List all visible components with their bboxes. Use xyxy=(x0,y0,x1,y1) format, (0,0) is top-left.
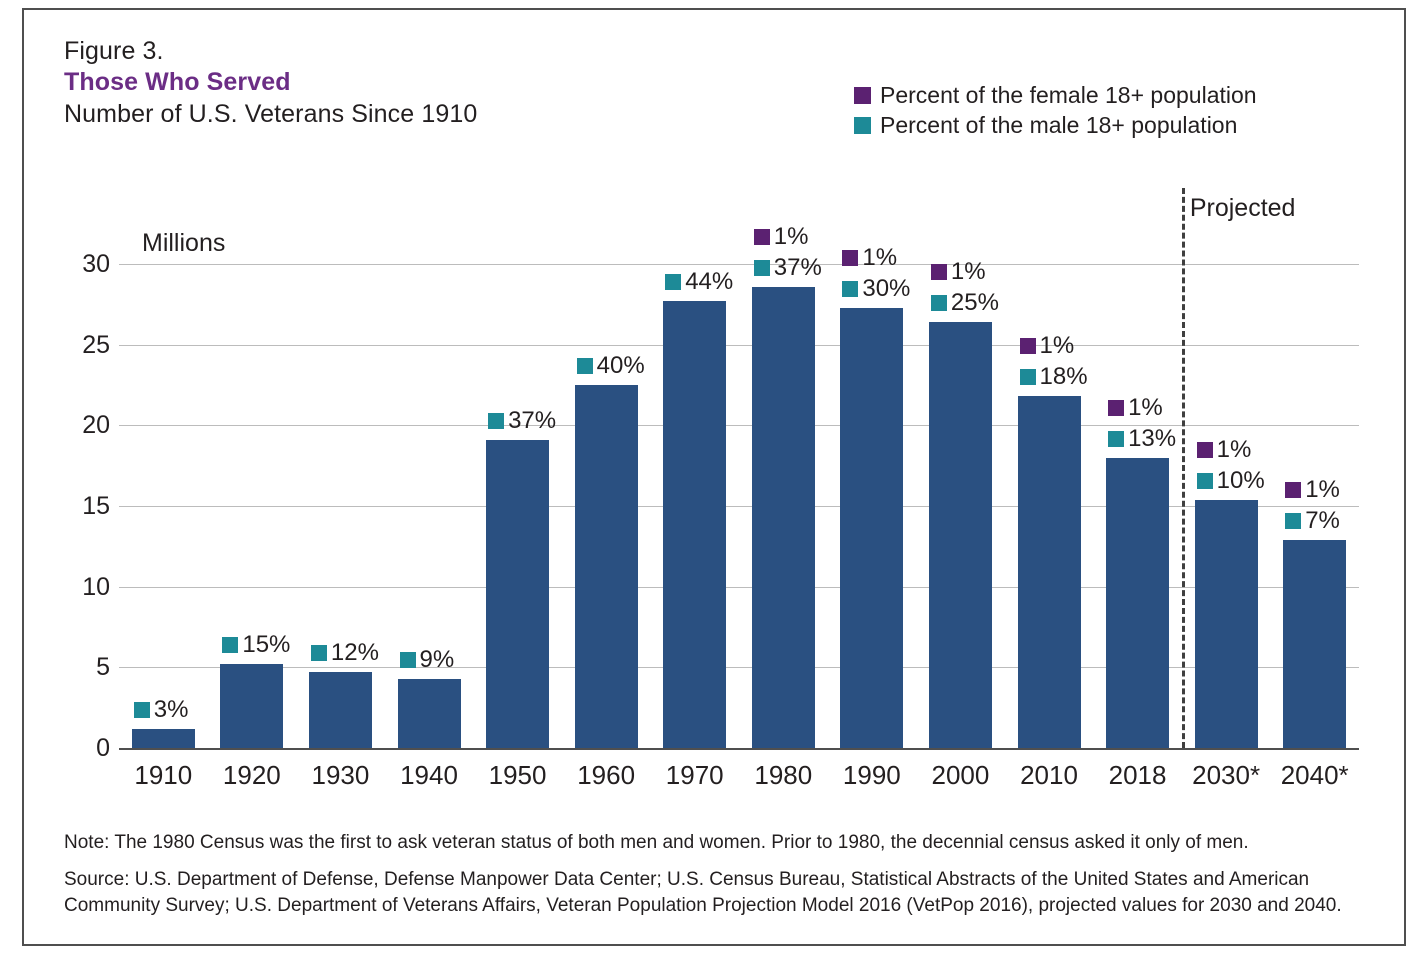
legend-swatch-icon xyxy=(854,117,871,134)
female-percent-label: 1% xyxy=(754,225,809,249)
percent-value: 18% xyxy=(1040,365,1088,389)
plot-area: 051015202530 3%15%12%9%37%40%44%1%37%1%3… xyxy=(119,264,1359,748)
y-axis-tick-label: 25 xyxy=(40,333,110,358)
gridline xyxy=(119,667,1359,668)
bar xyxy=(132,729,195,748)
percent-value: 25% xyxy=(951,291,999,315)
legend-item: Percent of the male 18+ population xyxy=(854,110,1257,140)
percent-value: 15% xyxy=(242,633,290,657)
y-axis-tick-label: 15 xyxy=(40,494,110,519)
x-axis-tick-label: 1990 xyxy=(828,760,917,790)
percent-swatch-icon xyxy=(1108,400,1124,416)
footnotes: Note: The 1980 Census was the first to a… xyxy=(64,830,1384,919)
gridline xyxy=(119,264,1359,265)
projected-label: Projected xyxy=(1190,194,1296,223)
female-percent-label: 1% xyxy=(1020,334,1075,358)
female-percent-label: 1% xyxy=(842,246,897,270)
percent-swatch-icon xyxy=(931,264,947,280)
percent-swatch-icon xyxy=(1108,431,1124,447)
percent-swatch-icon xyxy=(1285,513,1301,529)
y-axis-tick-label: 30 xyxy=(40,252,110,277)
percent-value: 1% xyxy=(951,260,986,284)
bar xyxy=(1195,500,1258,748)
x-axis-tick-label: 1930 xyxy=(296,760,385,790)
percent-swatch-icon xyxy=(1020,369,1036,385)
percent-value: 1% xyxy=(862,246,897,270)
male-percent-label: 12% xyxy=(311,641,379,665)
percent-swatch-icon xyxy=(1197,473,1213,489)
female-percent-label: 1% xyxy=(1285,478,1340,502)
female-percent-label: 1% xyxy=(931,260,986,284)
legend-item: Percent of the female 18+ population xyxy=(854,80,1257,110)
percent-value: 3% xyxy=(154,698,189,722)
x-axis-tick-label: 1970 xyxy=(650,760,739,790)
figure-container: Figure 3. Those Who Served Number of U.S… xyxy=(22,8,1406,946)
percent-value: 1% xyxy=(1128,396,1163,420)
male-percent-label: 10% xyxy=(1197,469,1265,493)
projection-divider xyxy=(1182,188,1185,748)
x-axis-tick-label: 2018 xyxy=(1093,760,1182,790)
figure-header: Figure 3. Those Who Served Number of U.S… xyxy=(64,36,477,130)
percent-value: 13% xyxy=(1128,427,1176,451)
bar xyxy=(486,440,549,748)
percent-swatch-icon xyxy=(842,281,858,297)
percent-value: 30% xyxy=(862,277,910,301)
figure-title: Those Who Served xyxy=(64,66,477,98)
x-axis-tick-label: 2000 xyxy=(916,760,1005,790)
figure-number: Figure 3. xyxy=(64,36,477,66)
male-percent-label: 7% xyxy=(1285,509,1340,533)
bar xyxy=(309,672,372,748)
y-axis-unit-label: Millions xyxy=(142,229,225,258)
gridline xyxy=(119,345,1359,346)
gridline xyxy=(119,587,1359,588)
percent-swatch-icon xyxy=(488,413,504,429)
source-text: Source: U.S. Department of Defense, Defe… xyxy=(64,867,1384,919)
female-percent-label: 1% xyxy=(1108,396,1163,420)
male-percent-label: 40% xyxy=(577,354,645,378)
percent-swatch-icon xyxy=(665,274,681,290)
male-percent-label: 30% xyxy=(842,277,910,301)
percent-value: 40% xyxy=(597,354,645,378)
x-axis-tick-label: 1980 xyxy=(739,760,828,790)
female-percent-label: 1% xyxy=(1197,438,1252,462)
percent-swatch-icon xyxy=(931,295,947,311)
bar xyxy=(752,287,815,748)
percent-value: 10% xyxy=(1217,469,1265,493)
x-axis-tick-label: 1940 xyxy=(385,760,474,790)
percent-value: 1% xyxy=(1305,478,1340,502)
x-axis-line xyxy=(119,748,1359,750)
x-axis-tick-label: 1920 xyxy=(208,760,297,790)
bar xyxy=(398,679,461,748)
male-percent-label: 18% xyxy=(1020,365,1088,389)
percent-value: 1% xyxy=(1040,334,1075,358)
percent-swatch-icon xyxy=(754,260,770,276)
percent-value: 37% xyxy=(508,409,556,433)
note-text: Note: The 1980 Census was the first to a… xyxy=(64,830,1384,856)
percent-swatch-icon xyxy=(1020,338,1036,354)
legend-item-label: Percent of the male 18+ population xyxy=(880,114,1237,137)
gridline xyxy=(119,506,1359,507)
bar xyxy=(1018,396,1081,748)
bar xyxy=(220,664,283,748)
legend-swatch-icon xyxy=(854,87,871,104)
legend-item-label: Percent of the female 18+ population xyxy=(880,84,1257,107)
percent-value: 1% xyxy=(1217,438,1252,462)
percent-swatch-icon xyxy=(577,358,593,374)
bar xyxy=(1106,458,1169,748)
male-percent-label: 37% xyxy=(488,409,556,433)
percent-swatch-icon xyxy=(400,652,416,668)
percent-value: 9% xyxy=(420,648,455,672)
bar xyxy=(1283,540,1346,748)
male-percent-label: 15% xyxy=(222,633,290,657)
x-axis-tick-label: 2030* xyxy=(1182,760,1271,790)
x-axis-tick-label: 1960 xyxy=(562,760,651,790)
x-axis-tick-label: 1950 xyxy=(473,760,562,790)
percent-swatch-icon xyxy=(1285,482,1301,498)
male-percent-label: 3% xyxy=(134,698,189,722)
x-axis-tick-label: 2010 xyxy=(1005,760,1094,790)
percent-value: 37% xyxy=(774,256,822,280)
y-axis-tick-label: 10 xyxy=(40,575,110,600)
x-axis-tick-label: 1910 xyxy=(119,760,208,790)
percent-value: 44% xyxy=(685,270,733,294)
bar xyxy=(663,301,726,748)
male-percent-label: 9% xyxy=(400,648,455,672)
y-axis-tick-label: 20 xyxy=(40,413,110,438)
percent-swatch-icon xyxy=(134,702,150,718)
x-axis-tick-label: 2040* xyxy=(1270,760,1359,790)
y-axis-tick-label: 0 xyxy=(40,736,110,761)
male-percent-label: 44% xyxy=(665,270,733,294)
bar xyxy=(840,308,903,748)
percent-swatch-icon xyxy=(754,229,770,245)
figure-subtitle: Number of U.S. Veterans Since 1910 xyxy=(64,98,477,130)
male-percent-label: 13% xyxy=(1108,427,1176,451)
male-percent-label: 37% xyxy=(754,256,822,280)
percent-value: 1% xyxy=(774,225,809,249)
chart-legend: Percent of the female 18+ populationPerc… xyxy=(854,80,1257,140)
percent-swatch-icon xyxy=(311,645,327,661)
bar xyxy=(929,322,992,748)
y-axis-tick-label: 5 xyxy=(40,655,110,680)
percent-value: 12% xyxy=(331,641,379,665)
bar xyxy=(575,385,638,748)
percent-swatch-icon xyxy=(222,637,238,653)
male-percent-label: 25% xyxy=(931,291,999,315)
percent-swatch-icon xyxy=(842,250,858,266)
percent-value: 7% xyxy=(1305,509,1340,533)
percent-swatch-icon xyxy=(1197,442,1213,458)
